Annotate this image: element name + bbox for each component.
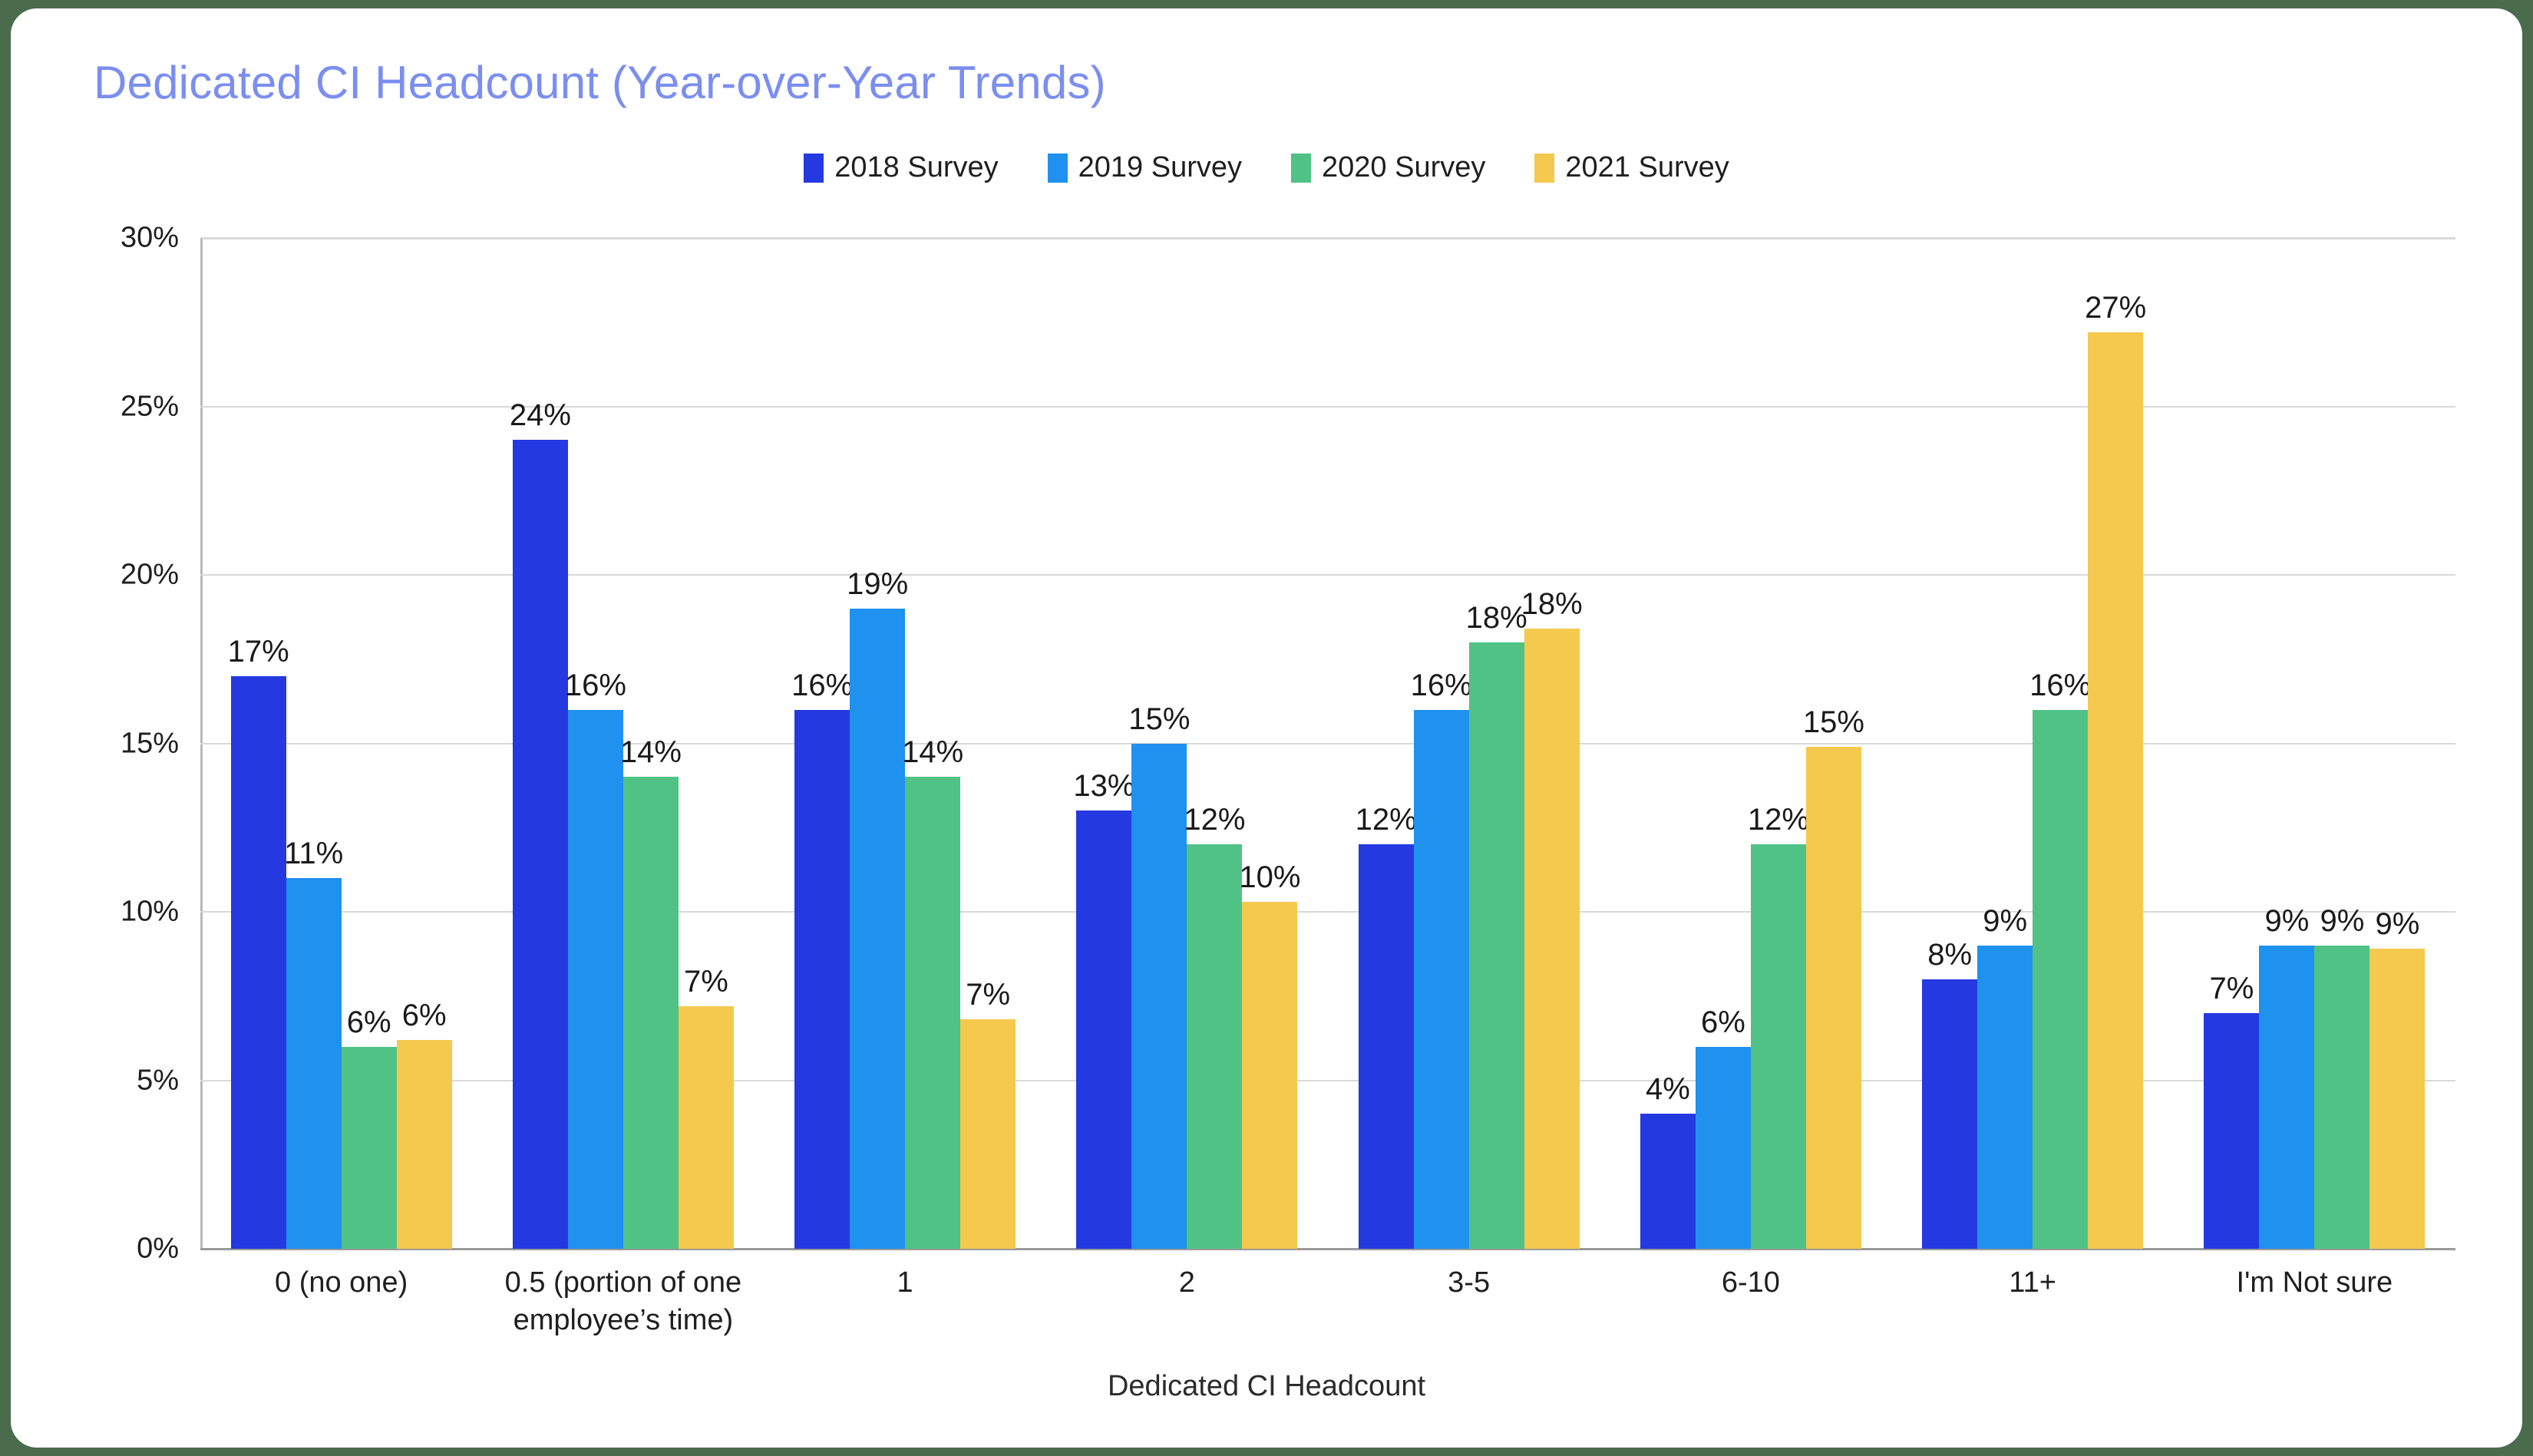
x-axis-tick-labels: 0 (no one)0.5 (portion of oneemployee’s … [200, 1264, 2455, 1372]
x-axis-tick-label: 0 (no one) [185, 1264, 497, 1302]
x-axis-tick-line: 2 [1031, 1264, 1343, 1302]
x-axis-tick-label: 6-10 [1594, 1264, 1907, 1302]
bar-value-label: 18% [1521, 589, 1583, 619]
bar-value-label: 17% [228, 636, 289, 667]
x-axis-tick-line: 0 (no one) [185, 1264, 497, 1302]
bar-value-label: 6% [347, 1007, 391, 1038]
bar-column[interactable]: 12% [1751, 238, 1806, 1249]
bar-column[interactable]: 7% [679, 238, 734, 1249]
bar-column[interactable]: 13% [1076, 238, 1131, 1249]
bar[interactable] [794, 710, 850, 1249]
bar-value-label: 12% [1184, 804, 1245, 835]
bar-column[interactable]: 9% [1977, 238, 2033, 1249]
bar-group: 16%19%14%7% [794, 238, 1016, 1249]
bar-group: 13%15%12%10% [1076, 238, 1297, 1249]
bar[interactable] [960, 1019, 1016, 1249]
y-axis-tick-label: 20% [11, 559, 179, 592]
bar[interactable] [850, 609, 905, 1249]
legend-item-label: 2020 Survey [1322, 151, 1485, 184]
bar-column[interactable]: 16% [794, 238, 850, 1249]
bar-value-label: 16% [791, 670, 853, 701]
bar-value-label: 12% [1356, 804, 1417, 835]
bar-column[interactable]: 19% [850, 238, 905, 1249]
bar[interactable] [1806, 747, 1861, 1249]
x-axis-tick-label: 0.5 (portion of oneemployee’s time) [467, 1264, 779, 1339]
bar[interactable] [397, 1040, 452, 1249]
x-axis-title: Dedicated CI Headcount [11, 1370, 2522, 1403]
bar-column[interactable]: 17% [231, 238, 286, 1249]
bar[interactable] [1131, 744, 1187, 1250]
x-axis-tick-label: I'm Not sure [2158, 1264, 2471, 1302]
legend-swatch-icon [804, 154, 824, 183]
x-axis-tick-line: 0.5 (portion of one [467, 1264, 779, 1302]
bar-value-label: 9% [2320, 906, 2364, 936]
page-title: Dedicated CI Headcount (Year-over-Year T… [94, 56, 1106, 109]
bar-column[interactable]: 18% [1469, 238, 1524, 1249]
legend-swatch-icon [1291, 154, 1311, 183]
bar[interactable] [1524, 629, 1580, 1249]
bar-column[interactable]: 4% [1640, 238, 1696, 1249]
bar-value-label: 13% [1073, 771, 1134, 801]
bar-value-label: 14% [902, 737, 963, 768]
bar-value-label: 6% [1701, 1007, 1745, 1038]
x-axis-tick-line: I'm Not sure [2158, 1264, 2471, 1302]
bar-value-label: 6% [402, 1000, 447, 1031]
bar-column[interactable]: 15% [1806, 238, 1861, 1249]
plot-frame: 17%11%6%6%24%16%14%7%16%19%14%7%13%15%12… [200, 238, 2455, 1249]
bar[interactable] [1469, 642, 1524, 1249]
bar-column[interactable]: 14% [905, 238, 960, 1249]
bar-column[interactable]: 10% [1242, 238, 1297, 1249]
bar[interactable] [1696, 1047, 1751, 1249]
bar-column[interactable]: 9% [2370, 238, 2425, 1249]
y-axis-tick-label: 10% [11, 896, 179, 929]
legend-item[interactable]: 2019 Survey [1048, 151, 1242, 184]
bar-column[interactable]: 16% [568, 238, 623, 1249]
legend-swatch-icon [1048, 154, 1068, 183]
bar[interactable] [623, 777, 679, 1249]
bar[interactable] [1187, 844, 1242, 1249]
chart-legend: 2018 Survey2019 Survey2020 Survey2021 Su… [11, 151, 2522, 184]
bar-value-label: 12% [1748, 804, 1809, 835]
bars-layer: 17%11%6%6%24%16%14%7%16%19%14%7%13%15%12… [200, 238, 2455, 1249]
bar-value-label: 27% [2085, 292, 2146, 323]
bar-column[interactable]: 16% [1414, 238, 1469, 1249]
bar-value-label: 9% [2264, 906, 2309, 936]
bar-group: 7%9%9%9% [2204, 238, 2425, 1249]
bar-column[interactable]: 16% [2033, 238, 2088, 1249]
bar-value-label: 16% [2029, 670, 2091, 701]
bar[interactable] [2370, 949, 2425, 1249]
legend-item-label: 2021 Survey [1565, 151, 1729, 184]
bar-value-label: 14% [620, 737, 682, 768]
x-axis-tick-line: 3-5 [1313, 1264, 1625, 1302]
x-axis-tick-line: 11+ [1877, 1264, 2189, 1302]
y-axis-tick-label: 5% [11, 1064, 179, 1097]
bar-column[interactable]: 27% [2088, 238, 2143, 1249]
y-axis-tick-label: 25% [11, 390, 179, 423]
bar-column[interactable]: 7% [2204, 238, 2259, 1249]
bar-value-label: 7% [684, 966, 728, 997]
bar-column[interactable]: 9% [2259, 238, 2314, 1249]
bar-value-label: 8% [1927, 939, 1972, 970]
bar[interactable] [1977, 946, 2033, 1249]
chart-card: Dedicated CI Headcount (Year-over-Year T… [11, 8, 2522, 1448]
bar-column[interactable]: 9% [2314, 238, 2370, 1249]
bar[interactable] [2204, 1013, 2259, 1249]
bar-column[interactable]: 6% [342, 238, 397, 1249]
bar-column[interactable]: 12% [1187, 238, 1242, 1249]
bar[interactable] [2033, 710, 2088, 1249]
bar[interactable] [342, 1047, 397, 1249]
bar[interactable] [513, 440, 568, 1249]
legend-swatch-icon [1534, 154, 1554, 183]
y-axis-tick-label: 0% [11, 1233, 179, 1266]
bar[interactable] [231, 676, 286, 1249]
legend-item-label: 2018 Survey [834, 151, 998, 184]
x-axis-tick-line: 6-10 [1594, 1264, 1907, 1302]
bar[interactable] [1414, 710, 1469, 1249]
legend-item-label: 2019 Survey [1078, 151, 1242, 184]
bar[interactable] [568, 710, 623, 1249]
bar[interactable] [1640, 1114, 1696, 1249]
bar[interactable] [2088, 332, 2143, 1249]
bar[interactable] [1751, 844, 1806, 1249]
bar-value-label: 9% [2375, 909, 2419, 939]
bar-value-label: 11% [284, 838, 343, 869]
bar-column[interactable]: 8% [1922, 238, 1977, 1249]
bar-value-label: 7% [2209, 973, 2254, 1004]
bar-group: 4%6%12%15% [1640, 238, 1861, 1249]
bar-column[interactable]: 6% [1696, 238, 1751, 1249]
bar-value-label: 24% [510, 400, 571, 431]
bar-value-label: 18% [1466, 603, 1527, 633]
bar-value-label: 19% [847, 569, 908, 599]
bar[interactable] [1076, 811, 1131, 1249]
bar-value-label: 15% [1803, 707, 1864, 738]
bar[interactable] [286, 878, 342, 1249]
bar-value-label: 16% [1411, 670, 1472, 701]
bar-value-label: 10% [1239, 862, 1300, 893]
bar[interactable] [1242, 902, 1297, 1249]
bar-group: 24%16%14%7% [513, 238, 734, 1249]
bar-column[interactable]: 24% [513, 238, 568, 1249]
legend-item[interactable]: 2018 Survey [804, 151, 998, 184]
bar-value-label: 4% [1646, 1074, 1690, 1104]
x-axis-tick-label: 11+ [1877, 1264, 2189, 1302]
x-axis-tick-label: 1 [749, 1264, 1062, 1302]
y-axis-tick-label: 15% [11, 727, 179, 760]
bar-column[interactable]: 11% [286, 238, 342, 1249]
bar[interactable] [905, 777, 960, 1249]
bar-value-label: 15% [1128, 704, 1190, 735]
bar[interactable] [1922, 979, 1977, 1249]
bar[interactable] [679, 1006, 734, 1249]
bar-group: 12%16%18%18% [1359, 238, 1580, 1249]
bar-column[interactable]: 14% [623, 238, 679, 1249]
x-axis-tick-line: employee’s time) [467, 1302, 779, 1339]
bar-column[interactable]: 18% [1524, 238, 1580, 1249]
bar-value-label: 9% [1983, 906, 2027, 936]
legend-item[interactable]: 2021 Survey [1534, 151, 1729, 184]
bar-group: 17%11%6%6% [231, 238, 452, 1249]
bar-column[interactable]: 6% [397, 238, 452, 1249]
bar[interactable] [1359, 844, 1414, 1249]
y-axis-tick-label: 30% [11, 222, 179, 255]
bar-column[interactable]: 12% [1359, 238, 1414, 1249]
bar[interactable] [2314, 946, 2370, 1249]
bar-column[interactable]: 7% [960, 238, 1016, 1249]
bar-column[interactable]: 15% [1131, 238, 1187, 1249]
x-axis-tick-label: 2 [1031, 1264, 1343, 1302]
bar-group: 8%9%16%27% [1922, 238, 2143, 1249]
x-axis-tick-line: 1 [749, 1264, 1062, 1302]
bar-value-label: 16% [565, 670, 626, 701]
x-axis-tick-label: 3-5 [1313, 1264, 1625, 1302]
bar-value-label: 7% [966, 979, 1010, 1010]
bar[interactable] [2259, 946, 2314, 1249]
legend-item[interactable]: 2020 Survey [1291, 151, 1485, 184]
